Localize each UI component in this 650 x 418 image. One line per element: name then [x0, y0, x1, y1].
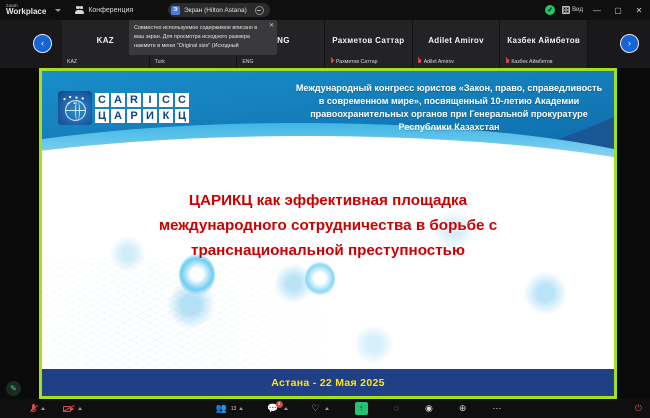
caricc-wordmark: C A R I C C Ц А Р И К	[95, 93, 189, 123]
presentation-slide[interactable]: C A R I C C Ц А Р И К	[39, 68, 617, 399]
title-bar: zoom Workplace Конференция Э Экран (Hilt…	[0, 0, 650, 20]
shared-screen-stage: C A R I C C Ц А Р И К	[33, 68, 617, 399]
chat-chevron-up-icon[interactable]	[284, 407, 288, 410]
participant-initials: Adilet Amirov	[428, 36, 484, 45]
participant-name-text: KAZ	[67, 59, 77, 65]
microphone-muted-icon	[505, 59, 509, 65]
participant-initials: Рахметов Саттар	[332, 36, 404, 45]
participant-name: KAZ	[67, 59, 77, 65]
chat-unread-badge: 1	[276, 401, 283, 408]
brand-large: Workplace	[6, 8, 46, 16]
logo-letter: И	[143, 109, 157, 123]
view-label: Вид	[572, 7, 583, 13]
maximize-button[interactable]: ▢	[611, 6, 625, 15]
logo-letter: C	[159, 93, 173, 107]
participant-name: ENG	[242, 59, 253, 65]
heart-reaction-icon: ♡	[312, 404, 320, 413]
participant-name: Казбек Аймбетов	[505, 59, 552, 65]
reactions-chevron-up-icon[interactable]	[325, 407, 329, 410]
logo-letter: А	[111, 109, 125, 123]
participant-tile[interactable]: Adilet Amirov Adilet Amirov	[413, 20, 501, 68]
participants-icon: 👥	[216, 404, 227, 413]
green-shield-check-icon[interactable]: ✓	[545, 5, 555, 15]
participant-name-text: Казбек Аймбетов	[511, 59, 552, 65]
chat-button[interactable]: 💬 1	[267, 404, 287, 413]
participants-button[interactable]: 👥 13	[216, 404, 244, 413]
view-button[interactable]: Вид	[562, 6, 583, 14]
participant-name-text: ENG	[242, 59, 253, 65]
close-icon[interactable]: ✕	[269, 23, 274, 29]
participant-tile[interactable]: Казбек Аймбетов Казбек Аймбетов	[500, 20, 588, 68]
window-controls: ✓ Вид — ▢ ✕	[545, 0, 646, 20]
interpretation-button[interactable]: ⊕	[459, 404, 467, 413]
slide-header-text: Международный конгресс юристов «Закон, п…	[294, 82, 604, 134]
participant-initials: Казбек Аймбетов	[507, 36, 580, 45]
participant-filmstrip: KAZ KAZ KAZ Turk ENG ENG Рахметов Саттар	[0, 20, 650, 68]
participant-name-text: Turk	[155, 59, 165, 65]
participant-name: Adilet Amirov	[418, 59, 454, 65]
participant-name-text: Adilet Amirov	[424, 59, 454, 65]
layout-grid-icon	[562, 6, 570, 14]
participant-tile[interactable]: Рахметов Саттар Рахметов Саттар	[325, 20, 413, 68]
participant-name-text: Рахметов Саттар	[336, 59, 377, 65]
participants-chevron-up-icon[interactable]	[239, 407, 243, 410]
meeting-tab-label: Конференция	[88, 7, 133, 14]
caricc-globe-icon	[58, 91, 92, 125]
mute-audio-button[interactable]	[30, 404, 45, 414]
audio-options-chevron-up-icon[interactable]	[41, 407, 45, 410]
microphone-muted-icon	[330, 59, 334, 65]
camera-muted-icon	[63, 405, 74, 413]
screen-share-status-pill[interactable]: Э Экран (Hilton Astana)	[168, 3, 270, 17]
microphone-muted-icon	[418, 59, 422, 65]
screen-share-icon: Э	[171, 6, 180, 15]
share-screen-button[interactable]: ↑	[355, 402, 368, 415]
participant-initials: KAZ	[97, 36, 114, 45]
participant-name: Turk	[155, 59, 165, 65]
participant-name: Рахметов Саттар	[330, 59, 377, 65]
meeting-tab[interactable]: Конференция	[75, 6, 133, 15]
stop-video-button[interactable]	[63, 405, 82, 413]
slide-footer: Астана - 22 Мая 2025	[42, 369, 614, 396]
logo-letter: Р	[127, 109, 141, 123]
logo-letter: R	[127, 93, 141, 107]
chat-icon: 💬 1	[267, 404, 278, 413]
logo-letter: К	[159, 109, 173, 123]
reactions-button[interactable]: ♡	[312, 404, 329, 413]
logo-letter: Ц	[95, 109, 109, 123]
logo-letter: A	[111, 93, 125, 107]
minimize-icon[interactable]	[255, 6, 264, 15]
logo-letter: I	[143, 93, 157, 107]
minimize-button[interactable]: —	[590, 6, 604, 15]
breakout-rooms-button[interactable]: ◌	[394, 404, 399, 413]
filmstrip-prev-button[interactable]: ‹	[33, 34, 52, 53]
logo-letter: C	[175, 93, 189, 107]
microphone-muted-icon	[30, 404, 37, 414]
annotate-button[interactable]: ✎	[6, 381, 21, 396]
chevron-down-icon[interactable]	[55, 9, 61, 12]
screen-share-label: Экран (Hilton Astana)	[184, 7, 247, 14]
filmstrip-next-button[interactable]: ›	[620, 34, 639, 53]
caricc-logo: C A R I C C Ц А Р И К	[58, 91, 189, 125]
participants-count: 13	[231, 406, 237, 412]
shared-content-tooltip: Совместно используемое содержимое вписан…	[129, 20, 277, 55]
zoom-meeting-window: zoom Workplace Конференция Э Экран (Hilt…	[0, 0, 650, 418]
tooltip-text: Совместно используемое содержимое вписан…	[134, 25, 257, 49]
slide-footer-text: Астана - 22 Мая 2025	[271, 377, 385, 389]
people-icon	[75, 6, 84, 15]
video-options-chevron-up-icon[interactable]	[78, 407, 82, 410]
meeting-toolbar: 👥 13 💬 1 ♡ ↑ ◌ ◉ ⊕ ⋯ ⏻	[0, 399, 650, 418]
more-options-button[interactable]: ⋯	[492, 404, 501, 413]
logo-letter: Ц	[175, 109, 189, 123]
slide-title: ЦАРИКЦ как эффективная площадка междунар…	[128, 188, 528, 264]
zoom-logo[interactable]: zoom Workplace	[6, 4, 46, 17]
close-button[interactable]: ✕	[632, 6, 646, 15]
leave-meeting-button[interactable]: ⏻	[635, 403, 642, 414]
record-button[interactable]: ◉	[425, 404, 433, 413]
logo-letter: C	[95, 93, 109, 107]
